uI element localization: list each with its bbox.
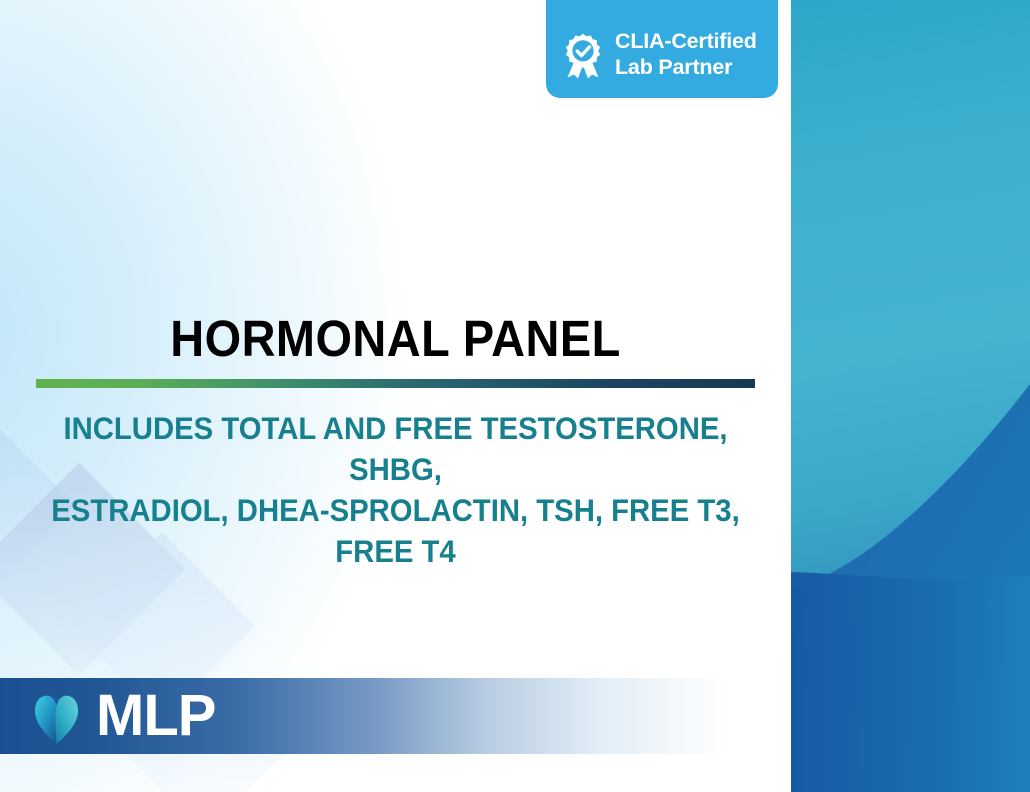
panel-inclusions-subtitle: INCLUDES TOTAL AND FREE TESTOSTERONE, SH… (28, 408, 764, 572)
mlp-logo-text: MLP (96, 687, 215, 745)
decorative-side-panel (791, 0, 1030, 792)
award-rosette-check-icon (562, 33, 604, 79)
headline-block: HORMONAL PANEL INCLUDES TOTAL AND FREE T… (0, 312, 791, 572)
subtitle-line2: ESTRADIOL, DHEA-SPROLACTIN, TSH, FREE T3… (51, 492, 739, 569)
footer-logo-bar: MLP (0, 678, 791, 754)
clia-badge-line2: Lab Partner (615, 55, 732, 79)
content-stage: CLIA-Certified Lab Partner HORMONAL PANE… (0, 0, 791, 792)
page-title: HORMONAL PANEL (32, 312, 760, 365)
clia-badge-line1: CLIA-Certified (615, 29, 757, 53)
subtitle-line1: INCLUDES TOTAL AND FREE TESTOSTERONE, SH… (63, 410, 727, 487)
clia-badge-text: CLIA-Certified Lab Partner (615, 28, 757, 80)
gradient-divider (36, 379, 755, 388)
hormonal-panel-banner: CLIA-Certified Lab Partner HORMONAL PANE… (0, 0, 1030, 792)
mlp-heart-petals-logo-icon (30, 687, 84, 745)
clia-certified-badge: CLIA-Certified Lab Partner (546, 0, 778, 98)
